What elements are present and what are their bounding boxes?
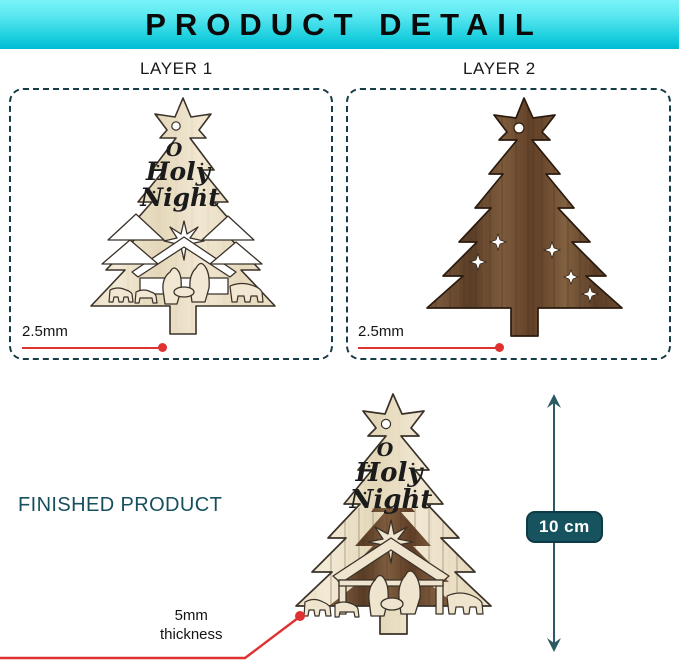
finished-product-label: FINISHED PRODUCT [18,494,222,517]
layer-2-caption: LAYER 2 [463,59,536,79]
layer-1-tree-image: O Holy Night [78,94,288,346]
product-detail-page: PRODUCT DETAIL LAYER 1 LAYER 2 [0,0,679,662]
layer-1-leader-line [22,347,163,349]
page-title: PRODUCT DETAIL [136,9,543,40]
height-dimension-badge: 10 cm [526,511,603,543]
layer-1-script-line-2: Holy [145,157,212,186]
layer-1-caption: LAYER 1 [140,59,213,79]
layer-2-thickness-label: 2.5mm [358,323,404,340]
finished-script-line-3: Night [349,485,433,515]
layer-1-leader-dot [158,343,167,352]
layer-1-script-line-3: Night [139,183,220,212]
layer-1-thickness-label: 2.5mm [22,323,68,340]
finished-script-line-2: Holy [355,458,425,488]
layer-2-leader-dot [495,343,504,352]
header-banner: PRODUCT DETAIL [0,0,679,49]
layer-2-tree-image [412,94,637,346]
layer-2-leader-line [358,347,500,349]
finished-thickness-leader [0,596,340,662]
